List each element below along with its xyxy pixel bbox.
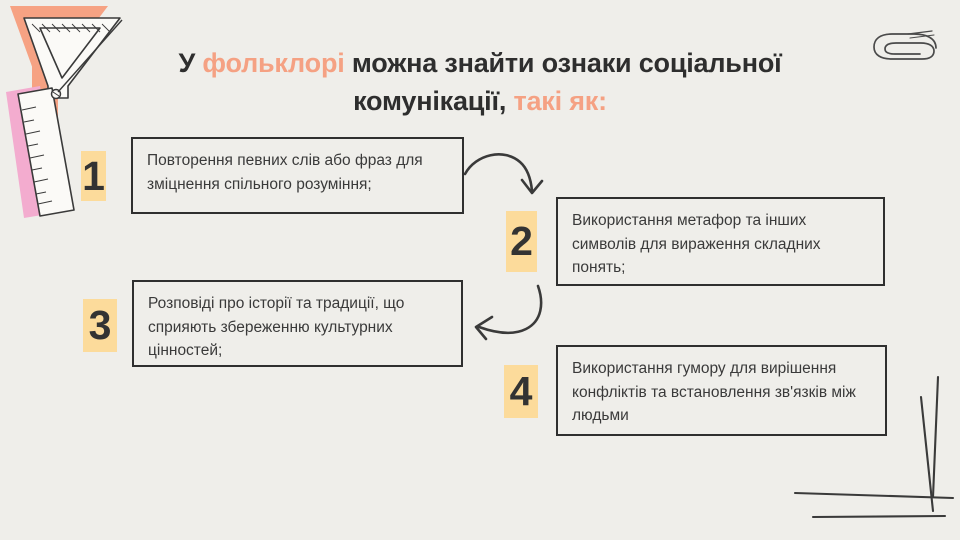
item-box-1: Повторення певних слів або фраз для зміц… xyxy=(131,137,464,214)
title-line-1: У фольклорі можна знайти ознаки соціальн… xyxy=(178,48,781,78)
title-text-plain-3: комунікації, xyxy=(353,86,513,116)
curved-arrow-left-icon xyxy=(468,283,556,345)
badge-number-3: 3 xyxy=(89,305,112,346)
slide-title: У фольклорі можна знайти ознаки соціальн… xyxy=(150,44,810,121)
title-accent-2: такі як: xyxy=(513,86,606,116)
item-box-2: Використання метафор та інших символів д… xyxy=(556,197,885,286)
item-text-4: Використання гумору для вирішення конфлі… xyxy=(572,360,856,424)
title-line-2: комунікації, такі як: xyxy=(353,86,607,116)
title-accent-1: фольклорі xyxy=(202,48,344,78)
badge-number-4: 4 xyxy=(510,371,533,412)
item-text-3: Розповіді про історії та традиції, що сп… xyxy=(148,295,404,359)
item-number-badge-1: 1 xyxy=(81,151,106,201)
curved-arrow-down-right-icon xyxy=(462,148,550,204)
slide-canvas: У фольклорі можна знайти ознаки соціальн… xyxy=(0,0,960,540)
title-text-plain-2: можна знайти ознаки соціальної xyxy=(345,48,782,78)
item-number-badge-2: 2 xyxy=(506,211,537,272)
item-text-1: Повторення певних слів або фраз для зміц… xyxy=(147,152,423,193)
item-box-4: Використання гумору для вирішення конфлі… xyxy=(556,345,887,436)
badge-number-1: 1 xyxy=(82,156,105,197)
title-text-plain-1: У xyxy=(178,48,202,78)
item-text-2: Використання метафор та інших символів д… xyxy=(572,212,821,276)
item-box-3: Розповіді про історії та традиції, що сп… xyxy=(132,280,463,367)
set-square-ruler-icon xyxy=(0,0,136,219)
item-number-badge-3: 3 xyxy=(83,299,117,352)
item-number-badge-4: 4 xyxy=(504,365,538,418)
paperclip-icon xyxy=(870,26,950,74)
badge-number-2: 2 xyxy=(510,221,533,262)
